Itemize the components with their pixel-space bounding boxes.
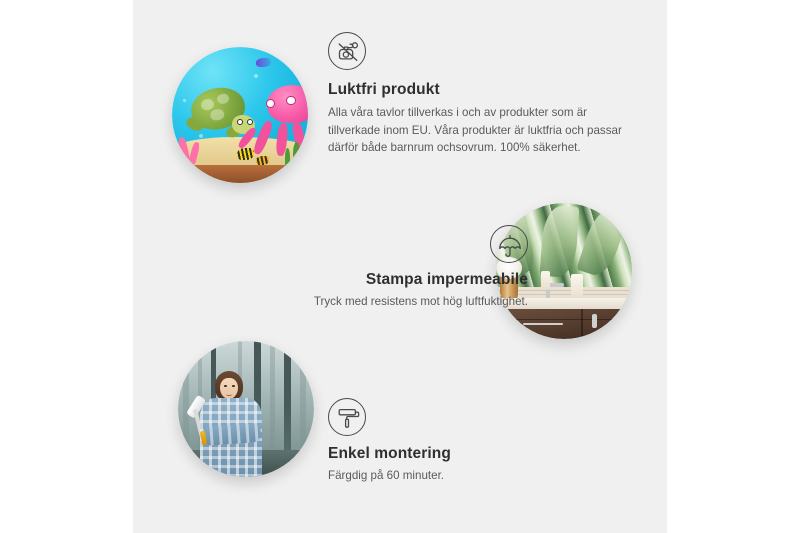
wood-vanity xyxy=(504,309,632,339)
turtle-shell-spot xyxy=(200,98,215,111)
toiletry-bottle xyxy=(571,274,583,301)
photo-ocean xyxy=(172,47,308,183)
no-perfume-spray-icon xyxy=(328,32,366,70)
cabinet-handle xyxy=(592,314,597,328)
feature-easy-mounting: Enkel montering Färgdig på 60 minuter. xyxy=(328,398,608,485)
feature-odourless: Luktfri produkt Alla våra tavlor tillver… xyxy=(328,32,623,157)
tree xyxy=(183,341,188,453)
striped-fish xyxy=(256,156,268,166)
icon-wrap xyxy=(328,398,608,436)
turtle-shell-spot xyxy=(217,93,231,105)
painter-smile xyxy=(226,391,233,395)
turtle-shell-spot xyxy=(210,108,225,121)
content-panel: Luktfri produkt Alla våra tavlor tillver… xyxy=(133,0,667,533)
infographic-canvas: Luktfri produkt Alla våra tavlor tillver… xyxy=(0,0,800,533)
tree xyxy=(300,341,305,453)
paint-roller-icon xyxy=(328,398,366,436)
drawer-seam xyxy=(504,319,632,321)
icon-wrap xyxy=(193,225,528,271)
feature-body: Färgdig på 60 minuter. xyxy=(328,467,608,485)
striped-fish xyxy=(237,148,253,160)
toiletry-bottle xyxy=(541,271,551,290)
umbrella-icon xyxy=(490,225,528,263)
seaweed xyxy=(293,142,300,166)
feature-body: Alla våra tavlor tillverkas i och av pro… xyxy=(328,104,623,157)
feature-title: Luktfri produkt xyxy=(328,81,623,99)
feature-title: Enkel montering xyxy=(328,445,608,463)
tree xyxy=(270,341,274,453)
photo-painter xyxy=(178,341,314,477)
icon-wrap xyxy=(328,32,623,70)
cabinet-seam xyxy=(581,309,583,339)
tree xyxy=(284,341,291,453)
painter-eye xyxy=(224,385,227,387)
ocean-bottom-strip xyxy=(172,165,308,183)
feature-title: Stampa impermeabile xyxy=(193,271,528,289)
bubble-icon xyxy=(254,74,258,78)
feature-body: Tryck med resistens mot hög luftfuktighe… xyxy=(193,293,528,311)
drawer-pull xyxy=(523,323,563,324)
feature-waterproof: Stampa impermeabile Tryck med resistens … xyxy=(193,225,528,311)
